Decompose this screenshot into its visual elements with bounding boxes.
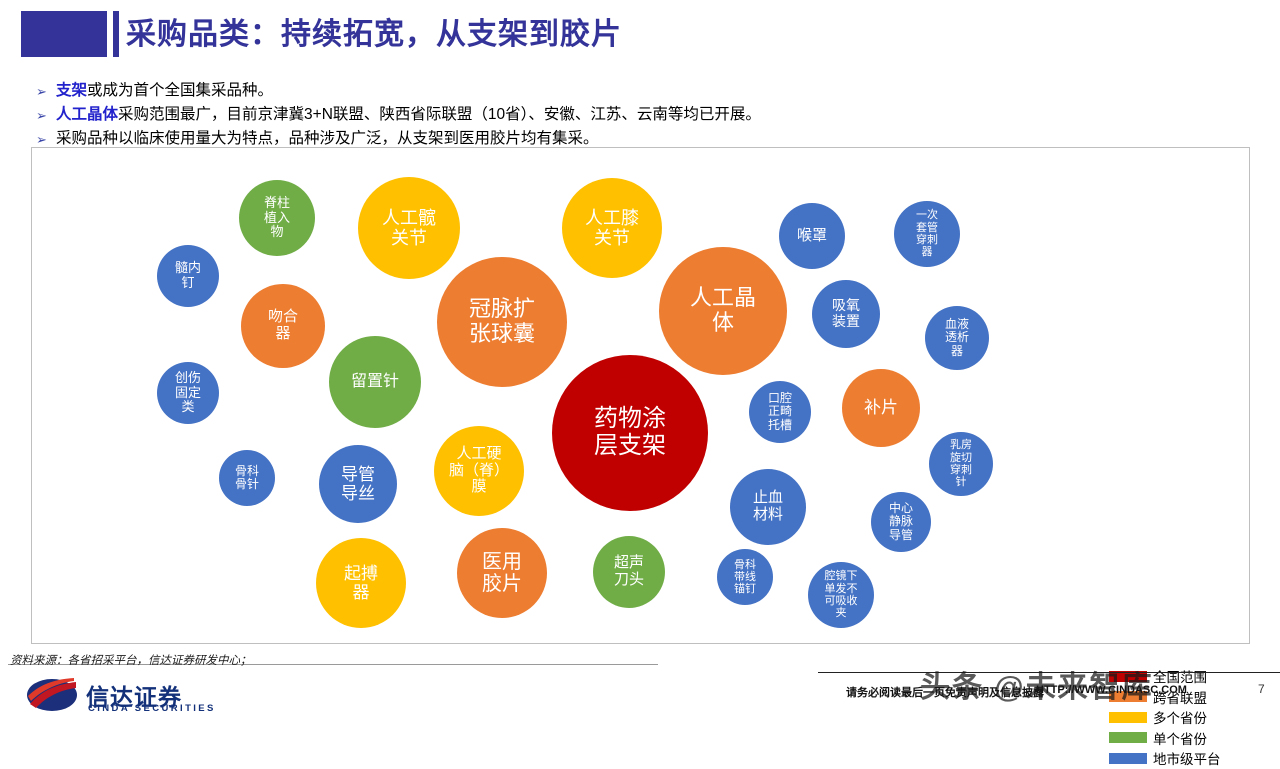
bubble-2[interactable]: 脊柱 植入 物 — [239, 180, 315, 256]
legend-label: 地市级平台 — [1153, 748, 1221, 768]
bubble-7[interactable]: 导管 导丝 — [319, 445, 397, 523]
bubble-label: 口腔 正畸 托槽 — [768, 392, 792, 432]
watermark: 头条 @未来智库 — [920, 662, 1154, 706]
legend-swatch-icon — [1109, 732, 1147, 743]
legend-item-3: 多个省份 — [1109, 707, 1259, 728]
bubble-label: 骨科 带线 锚钉 — [734, 559, 756, 596]
bubble-11[interactable]: 医用 胶片 — [457, 528, 547, 618]
bubble-label: 人工晶 体 — [690, 286, 756, 335]
arrow-bullet-icon: ➢ — [36, 105, 47, 126]
bubble-4[interactable]: 创伤 固定 类 — [157, 362, 219, 424]
bubble-label: 骨科 骨针 — [235, 465, 259, 492]
bubble-label: 一次 套管 穿刺 器 — [916, 209, 938, 258]
bubble-21[interactable]: 骨科 带线 锚钉 — [717, 549, 773, 605]
bullet-3-text: 采购品种以临床使用量大为特点，品种涉及广泛，从支架到医用胶片均有集采。 — [56, 130, 599, 147]
bullet-2-text: 采购范围最广，目前京津冀3+N联盟、陕西省际联盟（10省）、安徽、江苏、云南等均… — [118, 106, 761, 123]
legend-swatch-icon — [1109, 712, 1147, 723]
bubble-label: 血液 透析 器 — [945, 318, 969, 358]
bubble-9[interactable]: 人工髋 关节 — [358, 177, 460, 279]
company-logo: 信达证券 CINDA SECURITIES — [26, 678, 246, 716]
page-number: 7 — [1258, 682, 1265, 696]
bullet-item-3: ➢采购品种以临床使用量大为特点，品种涉及广泛，从支架到医用胶片均有集采。 — [34, 128, 1234, 149]
bubble-15[interactable]: 超声 刀头 — [593, 536, 665, 608]
bubble-label: 髓内 钉 — [175, 261, 201, 290]
legend-item-5: 地市级平台 — [1109, 748, 1259, 769]
logo-text-en: CINDA SECURITIES — [88, 703, 216, 714]
bubble-chart-canvas: 髓内 钉脊柱 植入 物吻合 器创伤 固定 类骨科 骨针留置针导管 导丝起搏 器人… — [32, 148, 1251, 645]
bubble-12[interactable]: 冠脉扩 张球囊 — [437, 257, 567, 387]
slide-root: 采购品类：持续拓宽，从支架到胶片 ➢支架或成为首个全国集采品种。 ➢人工晶体采购… — [0, 0, 1280, 720]
bubble-6[interactable]: 留置针 — [329, 336, 421, 428]
bubble-19[interactable]: 口腔 正畸 托槽 — [749, 381, 811, 443]
bubble-label: 脊柱 植入 物 — [264, 196, 290, 240]
bullet-1-text: 或成为首个全国集采品种。 — [87, 82, 273, 99]
bubble-17[interactable]: 喉罩 — [779, 203, 845, 269]
page-title: 采购品类：持续拓宽，从支架到胶片 — [126, 13, 1026, 59]
bubble-label: 留置针 — [351, 373, 399, 391]
bubble-label: 超声 刀头 — [614, 555, 644, 589]
bubble-label: 喉罩 — [797, 228, 827, 245]
bubble-label: 创伤 固定 类 — [175, 371, 201, 415]
header-accent-bar — [113, 11, 119, 57]
legend-label: 多个省份 — [1153, 707, 1207, 727]
bullet-item-1: ➢支架或成为首个全国集采品种。 — [34, 80, 1234, 101]
bullet-item-2: ➢人工晶体采购范围最广，目前京津冀3+N联盟、陕西省际联盟（10省）、安徽、江苏… — [34, 104, 1234, 125]
bubble-22[interactable]: 腔镜下 单发不 可吸收 夹 — [808, 562, 874, 628]
bullet-2-strong: 人工晶体 — [56, 106, 118, 123]
bubble-label: 人工硬 脑（脊） 膜 — [449, 446, 509, 496]
bubble-16[interactable]: 人工晶 体 — [659, 247, 787, 375]
bubble-label: 人工膝 关节 — [585, 208, 639, 248]
bubble-label: 导管 导丝 — [341, 465, 375, 503]
legend-label: 单个省份 — [1153, 728, 1207, 748]
legend-swatch-icon — [1109, 753, 1147, 764]
bubble-label: 中心 静脉 导管 — [889, 502, 913, 542]
bubble-23[interactable]: 中心 静脉 导管 — [871, 492, 931, 552]
bubble-3[interactable]: 吻合 器 — [241, 284, 325, 368]
bubble-24[interactable]: 补片 — [842, 369, 920, 447]
bubble-label: 腔镜下 单发不 可吸收 夹 — [825, 570, 858, 619]
source-note: 资料来源：各省招采平台，信达证券研发中心； — [10, 652, 252, 668]
bubble-5[interactable]: 骨科 骨针 — [219, 450, 275, 506]
bullet-1-strong: 支架 — [56, 82, 87, 99]
cinda-logo-icon — [26, 678, 78, 712]
bubble-8[interactable]: 起搏 器 — [316, 538, 406, 628]
bubble-10[interactable]: 人工硬 脑（脊） 膜 — [434, 426, 524, 516]
bullet-list: ➢支架或成为首个全国集采品种。 ➢人工晶体采购范围最广，目前京津冀3+N联盟、陕… — [34, 80, 1234, 152]
bubble-14[interactable]: 药物涂 层支架 — [552, 355, 708, 511]
bubble-label: 起搏 器 — [344, 564, 378, 602]
legend-item-4: 单个省份 — [1109, 728, 1259, 749]
bubble-27[interactable]: 乳房 旋切 穿刺 针 — [929, 432, 993, 496]
bubble-label: 乳房 旋切 穿刺 针 — [950, 439, 972, 488]
bubble-13[interactable]: 人工膝 关节 — [562, 178, 662, 278]
bubble-25[interactable]: 一次 套管 穿刺 器 — [894, 201, 960, 267]
bubble-label: 吻合 器 — [268, 309, 298, 343]
bubble-label: 人工髋 关节 — [382, 208, 436, 248]
bubble-label: 补片 — [864, 398, 898, 417]
bubble-label: 吸氧 装置 — [832, 298, 860, 329]
header-accent-square — [21, 11, 107, 57]
bubble-label: 止血 材料 — [753, 490, 783, 524]
bubble-label: 冠脉扩 张球囊 — [469, 297, 535, 346]
bubble-18[interactable]: 吸氧 装置 — [812, 280, 880, 348]
arrow-bullet-icon: ➢ — [36, 81, 47, 102]
bubble-20[interactable]: 止血 材料 — [730, 469, 806, 545]
bubble-26[interactable]: 血液 透析 器 — [925, 306, 989, 370]
bubble-label: 医用 胶片 — [482, 551, 522, 596]
bubble-chart-frame: 髓内 钉脊柱 植入 物吻合 器创伤 固定 类骨科 骨针留置针导管 导丝起搏 器人… — [31, 147, 1250, 644]
bubble-label: 药物涂 层支架 — [594, 406, 666, 460]
bubble-1[interactable]: 髓内 钉 — [157, 245, 219, 307]
